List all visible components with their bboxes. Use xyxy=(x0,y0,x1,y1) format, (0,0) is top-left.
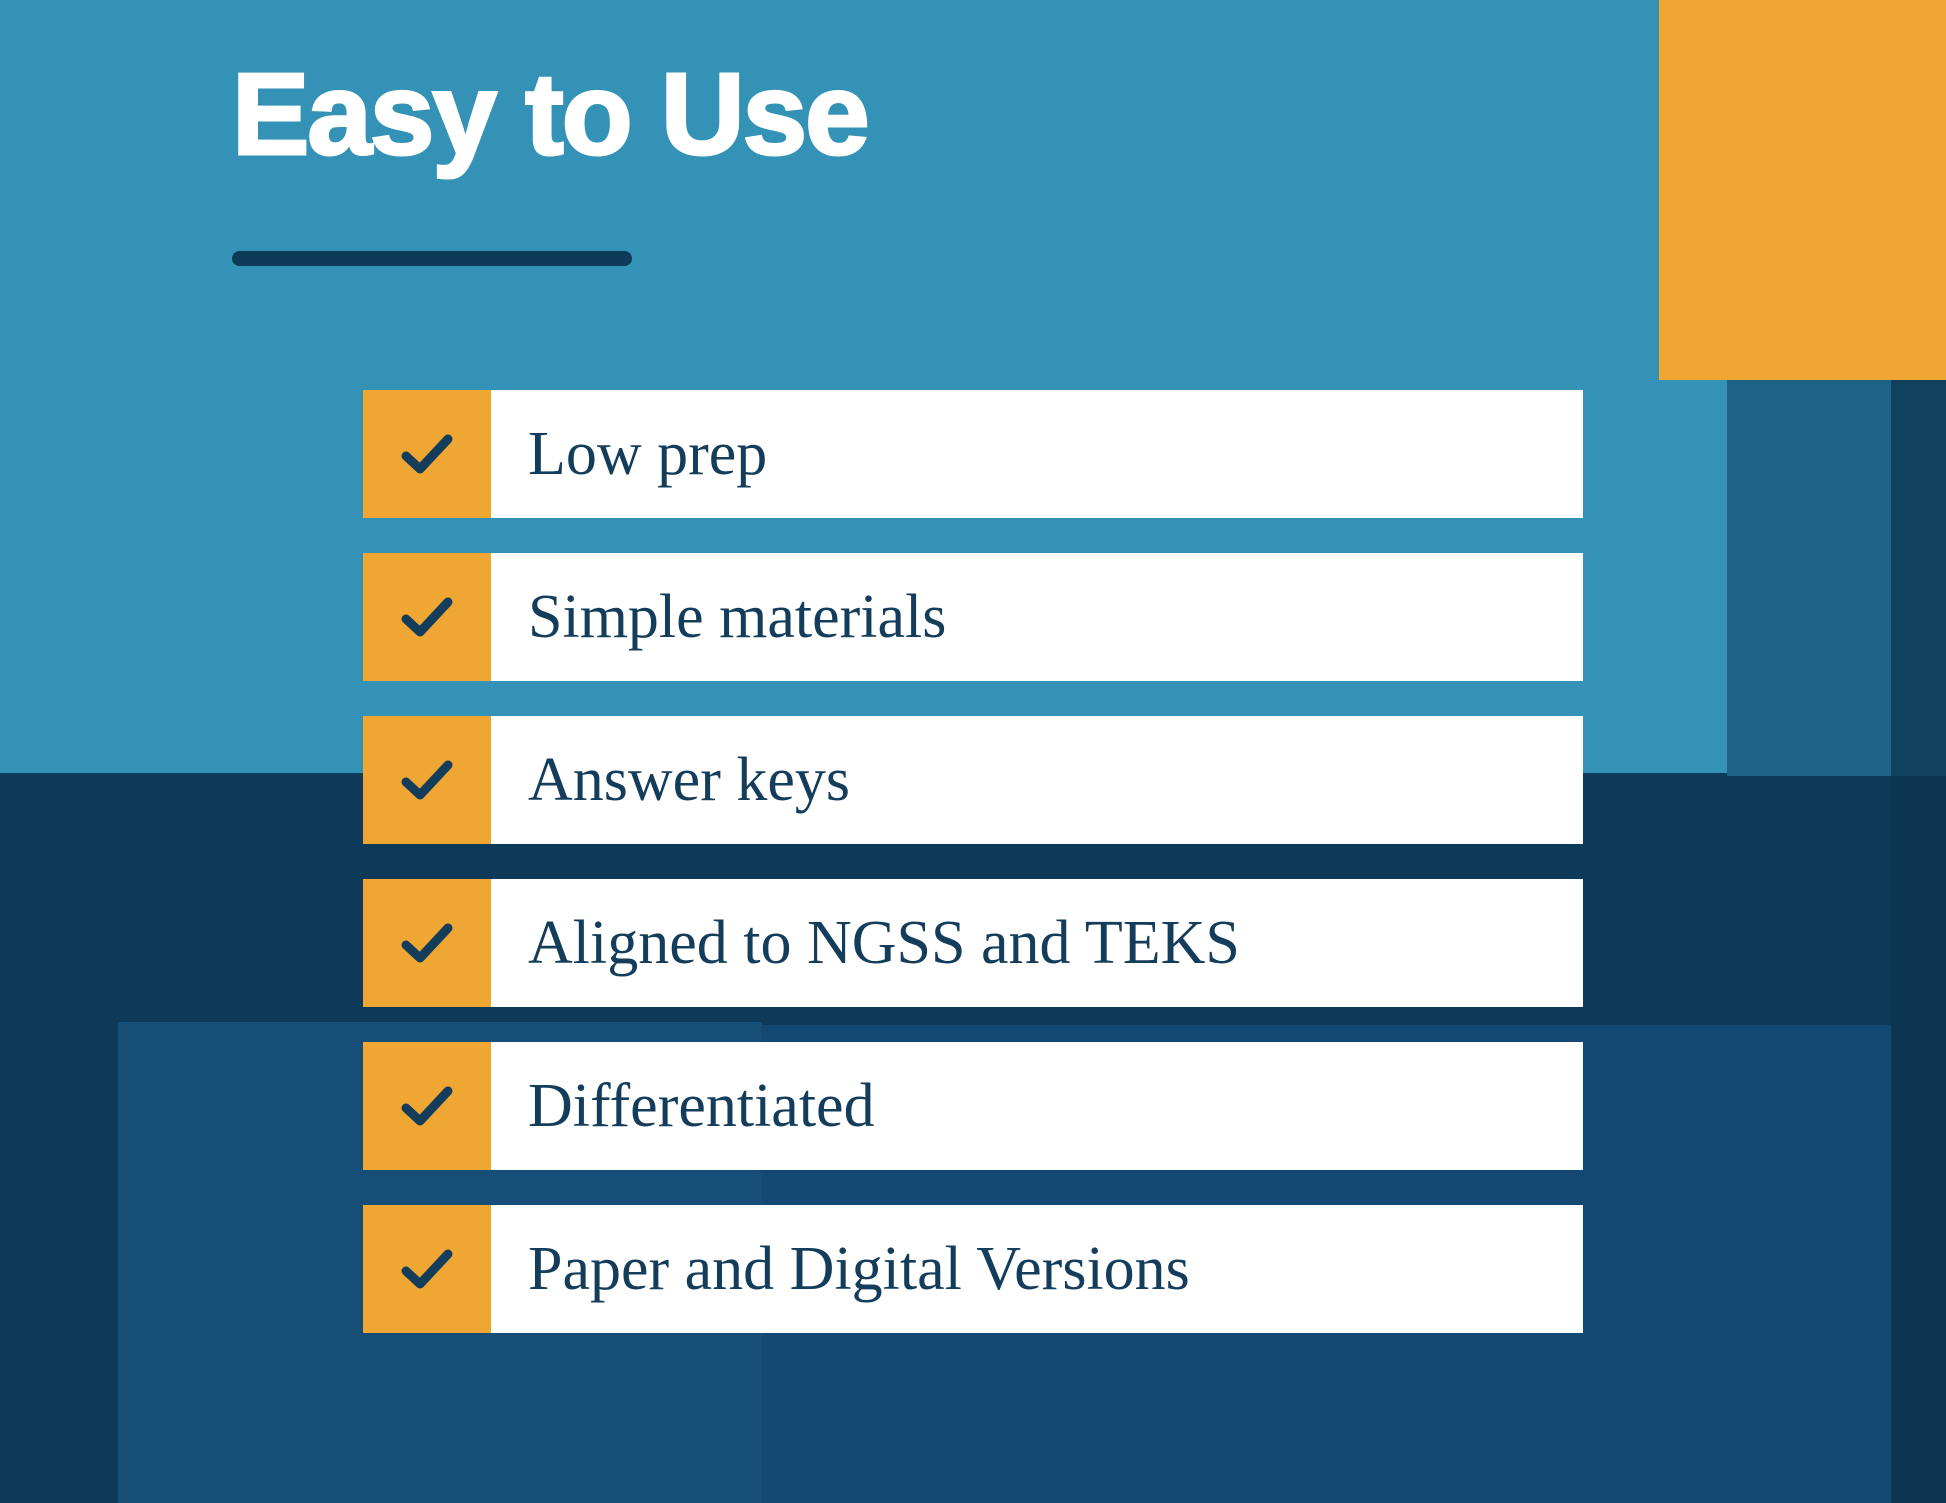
title-block: Easy to Use xyxy=(232,52,1432,177)
checkbox-checked[interactable] xyxy=(363,1205,491,1333)
check-icon xyxy=(392,582,462,652)
check-icon xyxy=(392,1071,462,1141)
checkbox-checked[interactable] xyxy=(363,879,491,1007)
checklist-row[interactable]: Differentiated xyxy=(363,1042,1583,1170)
checklist-item-label: Differentiated xyxy=(491,1042,1583,1170)
background-mid-blue-right-block xyxy=(1727,372,1891,776)
checklist-row[interactable]: Low prep xyxy=(363,390,1583,518)
check-icon xyxy=(392,419,462,489)
checklist-item-label: Paper and Digital Versions xyxy=(491,1205,1583,1333)
checklist-row[interactable]: Paper and Digital Versions xyxy=(363,1205,1583,1333)
checkbox-checked[interactable] xyxy=(363,1042,491,1170)
slide-canvas: Easy to Use Low prep Simple materials xyxy=(0,0,1946,1503)
checklist-item-label: Low prep xyxy=(491,390,1583,518)
title-underline-rule xyxy=(232,251,632,266)
checklist: Low prep Simple materials Answer keys xyxy=(363,390,1583,1333)
background-dark-navy-far-right xyxy=(1891,776,1946,1503)
checkbox-checked[interactable] xyxy=(363,716,491,844)
page-title: Easy to Use xyxy=(232,52,1432,177)
check-icon xyxy=(392,1234,462,1304)
checkbox-checked[interactable] xyxy=(363,390,491,518)
checklist-item-label: Answer keys xyxy=(491,716,1583,844)
checkbox-checked[interactable] xyxy=(363,553,491,681)
check-icon xyxy=(392,745,462,815)
checklist-row[interactable]: Simple materials xyxy=(363,553,1583,681)
check-icon xyxy=(392,908,462,978)
checklist-row[interactable]: Answer keys xyxy=(363,716,1583,844)
background-dark-navy-right-strip xyxy=(1891,372,1946,776)
checklist-item-label: Simple materials xyxy=(491,553,1583,681)
background-orange-corner-block xyxy=(1659,0,1946,380)
checklist-row[interactable]: Aligned to NGSS and TEKS xyxy=(363,879,1583,1007)
checklist-item-label: Aligned to NGSS and TEKS xyxy=(491,879,1583,1007)
